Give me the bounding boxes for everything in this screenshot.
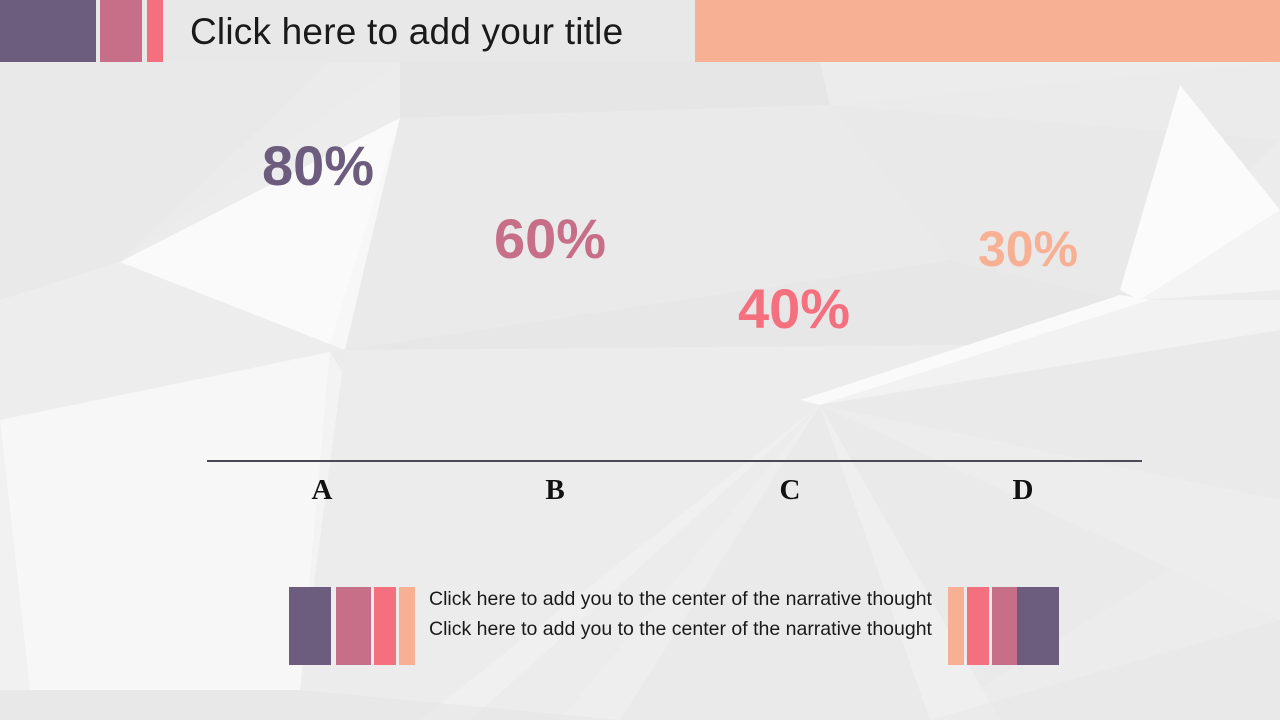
percentage-label-a: 80% (262, 138, 374, 194)
decoration-bar-left-rose (336, 587, 371, 665)
body-text-placeholder[interactable]: Click here to add you to the center of t… (429, 584, 934, 644)
axis-label-d: D (993, 474, 1053, 507)
slide-title-placeholder[interactable]: Click here to add your title (190, 9, 623, 55)
chart-baseline-axis (207, 460, 1142, 462)
decoration-bar-right-purple (1017, 587, 1059, 665)
decoration-bar-right-peach (948, 587, 964, 665)
header-chip-coral (147, 0, 163, 62)
decoration-bar-right-coral (967, 587, 989, 665)
percentage-label-c: 40% (738, 281, 850, 337)
header-chip-peach (695, 0, 1280, 62)
axis-label-b: B (525, 474, 585, 507)
header-chip-purple (0, 0, 96, 62)
decoration-bar-left-coral (374, 587, 396, 665)
axis-label-c: C (760, 474, 820, 507)
presentation-slide: Click here to add your title 80% 60% 40%… (0, 0, 1280, 720)
axis-label-a: A (292, 474, 352, 507)
decoration-bar-left-peach (399, 587, 415, 665)
percentage-label-d: 30% (978, 224, 1078, 274)
decoration-bar-left-purple (289, 587, 331, 665)
header-chip-rose (100, 0, 142, 62)
percentage-label-b: 60% (494, 211, 606, 267)
